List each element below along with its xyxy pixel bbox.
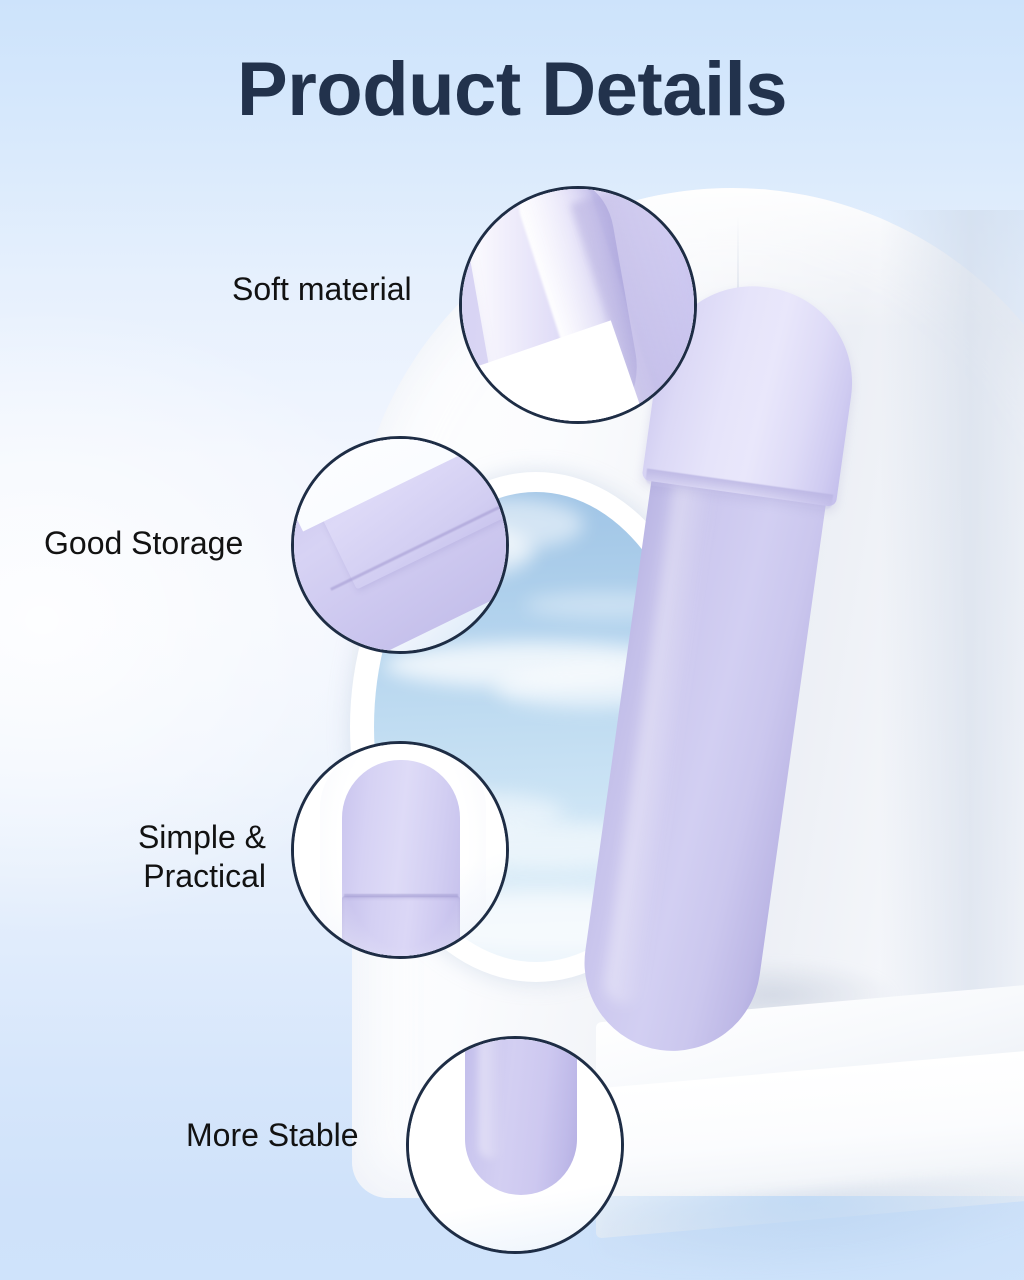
product-details-infographic: Product Details (0, 0, 1024, 1280)
callout-simple-practical (291, 741, 509, 959)
callout-vignette (320, 748, 486, 959)
callout-more-stable (406, 1036, 624, 1254)
feature-label-more-stable: More Stable (186, 1116, 359, 1155)
callout-good-storage (291, 436, 509, 654)
feature-label-soft-material: Soft material (232, 270, 412, 309)
product-tip-highlight (479, 1036, 503, 1159)
page-title: Product Details (0, 48, 1024, 132)
arch-right-shadow (880, 210, 1024, 1110)
feature-label-simple-practical: Simple & Practical (116, 818, 266, 896)
feature-label-good-storage: Good Storage (44, 524, 243, 563)
callout-soft-material (459, 186, 697, 424)
